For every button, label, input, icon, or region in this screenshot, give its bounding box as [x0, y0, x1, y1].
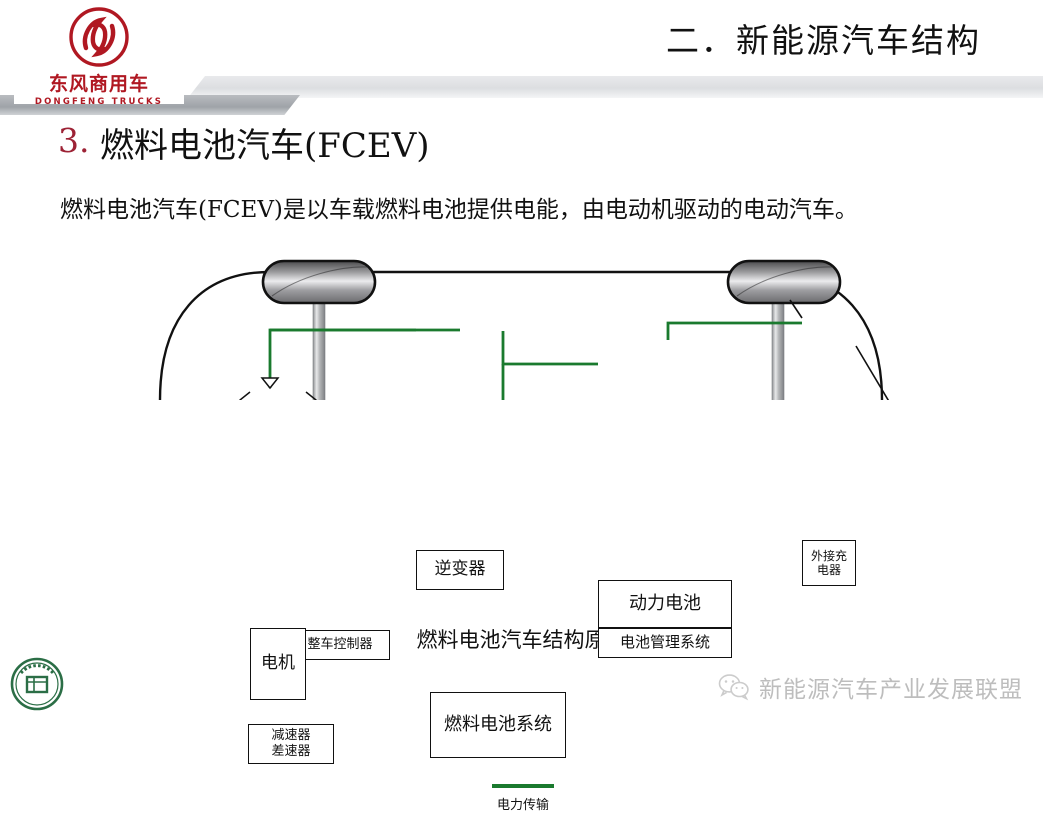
box-battery-management-system: 电池管理系统	[598, 628, 732, 658]
power-wiring	[270, 323, 802, 400]
reducer-label: 减速器	[271, 728, 310, 744]
box-motor: 电机	[250, 628, 306, 700]
box-external-charger: 外接充 电器	[802, 540, 856, 586]
legend-label: 电力传输	[492, 794, 554, 813]
axles	[313, 288, 784, 400]
logo-brand-en: DONGFENG TRUCKS	[14, 97, 184, 107]
charger-label-line1: 外接充	[811, 549, 847, 563]
dongfeng-swirl-icon	[68, 6, 130, 68]
box-power-battery: 动力电池	[598, 580, 732, 628]
logo-brand-cn: 东风商用车	[14, 69, 184, 96]
figure-caption: 燃料电池汽车结构原理	[0, 624, 1043, 654]
dongfeng-logo: 东风商用车 DONGFENG TRUCKS	[14, 6, 184, 104]
wechat-account-name: 新能源汽车产业发展联盟	[759, 670, 1023, 704]
fcev-structure-diagram: 逆变器 整车控制器 电机 减速器 差速器 燃料电池系统 动力电池 电池管理系统 …	[0, 240, 1043, 640]
differential-label: 差速器	[271, 744, 310, 760]
diagram-legend: 电力传输	[492, 784, 554, 813]
box-inverter: 逆变器	[416, 550, 504, 590]
wechat-icon	[718, 673, 750, 701]
box-reducer-differential: 减速器 差速器	[248, 724, 334, 764]
charger-label-line2: 电器	[817, 563, 841, 577]
box-fuel-cell-system: 燃料电池系统	[430, 692, 566, 758]
wechat-account-watermark: 新能源汽车产业发展联盟	[718, 670, 1023, 704]
section-title: 二．新能源汽车结构	[666, 14, 981, 62]
power-transmission-swatch	[492, 784, 554, 788]
green-circular-seal-icon	[8, 655, 66, 713]
